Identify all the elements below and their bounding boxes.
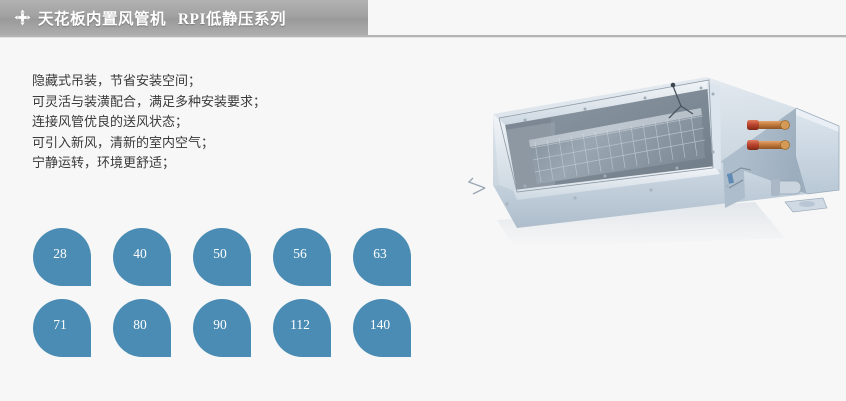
capacity-badge-label: 63 bbox=[373, 247, 387, 261]
feature-list: 隐藏式吊装，节省安装空间； 可灵活与装潢配合，满足多种安装要求； 连接风管优良的… bbox=[32, 72, 432, 175]
header-divider-highlight bbox=[0, 37, 846, 38]
capacity-badge-grid: 28 40 50 56 63 71 80 90 112 140 bbox=[33, 228, 453, 370]
page-title: 天花板内置风管机 RPI低静压系列 bbox=[38, 7, 286, 29]
ducted-air-conditioner-photo bbox=[455, 52, 846, 267]
capacity-badge[interactable]: 90 bbox=[193, 299, 251, 357]
capacity-badge-label: 28 bbox=[53, 247, 67, 261]
feature-line: 连接风管优良的送风状态； bbox=[32, 113, 432, 134]
feature-line: 可引入新风，清新的室内空气； bbox=[32, 134, 432, 155]
capacity-badge[interactable]: 80 bbox=[113, 299, 171, 357]
capacity-badge-label: 71 bbox=[53, 318, 67, 332]
feature-line: 可灵活与装潢配合，满足多种安装要求； bbox=[32, 93, 432, 114]
capacity-badge-row: 28 40 50 56 63 bbox=[33, 228, 453, 286]
feature-line: 隐藏式吊装，节省安装空间； bbox=[32, 72, 432, 93]
capacity-badge-label: 50 bbox=[213, 247, 227, 261]
page-title-cjk-tail: 低静压系列 bbox=[206, 10, 286, 28]
move-four-arrows-icon bbox=[14, 9, 31, 26]
capacity-badge-row: 71 80 90 112 140 bbox=[33, 299, 453, 357]
capacity-badge[interactable]: 56 bbox=[273, 228, 331, 286]
feature-line: 宁静运转，环境更舒适； bbox=[32, 154, 432, 175]
capacity-badge[interactable]: 63 bbox=[353, 228, 411, 286]
capacity-badge-label: 112 bbox=[290, 318, 310, 332]
capacity-badge[interactable]: 50 bbox=[193, 228, 251, 286]
capacity-badge-label: 80 bbox=[133, 318, 147, 332]
capacity-badge[interactable]: 140 bbox=[353, 299, 411, 357]
capacity-badge-label: 56 bbox=[293, 247, 307, 261]
capacity-badge[interactable]: 40 bbox=[113, 228, 171, 286]
page-title-cjk-lead: 天花板内置风管机 bbox=[38, 10, 166, 28]
capacity-badge[interactable]: 71 bbox=[33, 299, 91, 357]
page-header-bar: 天花板内置风管机 RPI低静压系列 bbox=[0, 0, 368, 35]
capacity-badge[interactable]: 112 bbox=[273, 299, 331, 357]
capacity-badge[interactable]: 28 bbox=[33, 228, 91, 286]
capacity-badge-label: 40 bbox=[133, 247, 147, 261]
capacity-badge-label: 90 bbox=[213, 318, 227, 332]
capacity-badge-label: 140 bbox=[370, 318, 390, 332]
page-title-latin: RPI bbox=[178, 11, 206, 28]
